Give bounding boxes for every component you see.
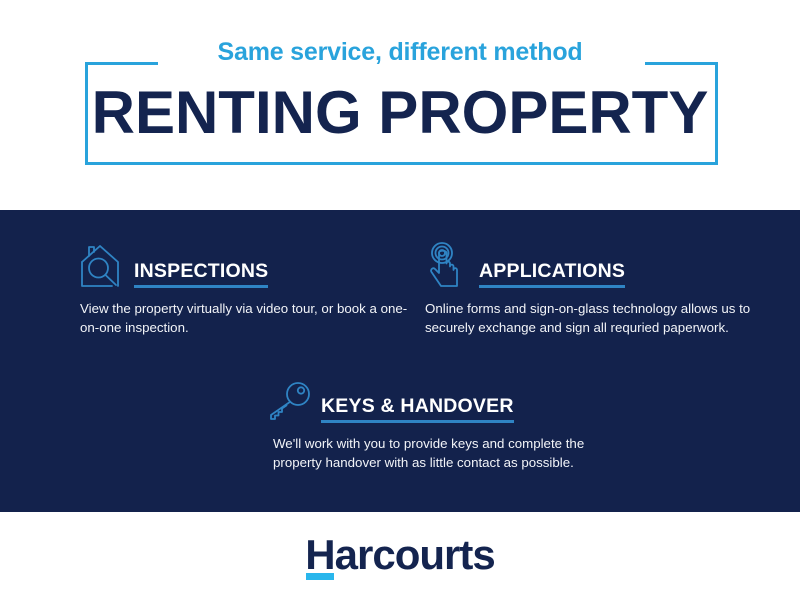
feature-title-underline: [321, 420, 514, 423]
feature-header: INSPECTIONS: [78, 240, 408, 290]
feature-title: APPLICATIONS: [479, 260, 625, 282]
feature-header: KEYS & HANDOVER: [265, 375, 595, 425]
feature-title-underline: [134, 285, 268, 288]
brand-logo: Harcourts: [0, 532, 800, 578]
feature-body: View the property virtually via video to…: [80, 300, 408, 337]
footer: Harcourts: [0, 512, 800, 600]
feature-title-wrap: KEYS & HANDOVER: [321, 395, 514, 425]
feature-title-wrap: INSPECTIONS: [134, 260, 268, 290]
features-section: INSPECTIONS View the property virtually …: [0, 210, 800, 512]
brand-name: Harcourts: [305, 532, 494, 578]
feature-inspections: INSPECTIONS View the property virtually …: [78, 240, 408, 337]
header-subtitle: Same service, different method: [0, 38, 800, 67]
feature-body: Online forms and sign-on-glass technolog…: [425, 300, 763, 337]
key-icon: [265, 377, 313, 425]
feature-keys-handover: KEYS & HANDOVER We'll work with you to p…: [265, 375, 595, 472]
hand-tap-icon: [423, 242, 471, 290]
brand-text: Harcourts: [305, 531, 494, 578]
house-magnifier-icon: [78, 242, 126, 290]
feature-title-underline: [479, 285, 625, 288]
brand-accent-bar: [306, 573, 334, 580]
page-title: RENTING PROPERTY: [0, 80, 800, 146]
feature-title: KEYS & HANDOVER: [321, 395, 514, 417]
feature-title-wrap: APPLICATIONS: [479, 260, 625, 290]
feature-body: We'll work with you to provide keys and …: [273, 435, 595, 472]
feature-applications: APPLICATIONS Online forms and sign-on-gl…: [423, 240, 763, 337]
feature-title: INSPECTIONS: [134, 260, 268, 282]
feature-header: APPLICATIONS: [423, 240, 763, 290]
header-banner: Same service, different method RENTING P…: [0, 0, 800, 200]
